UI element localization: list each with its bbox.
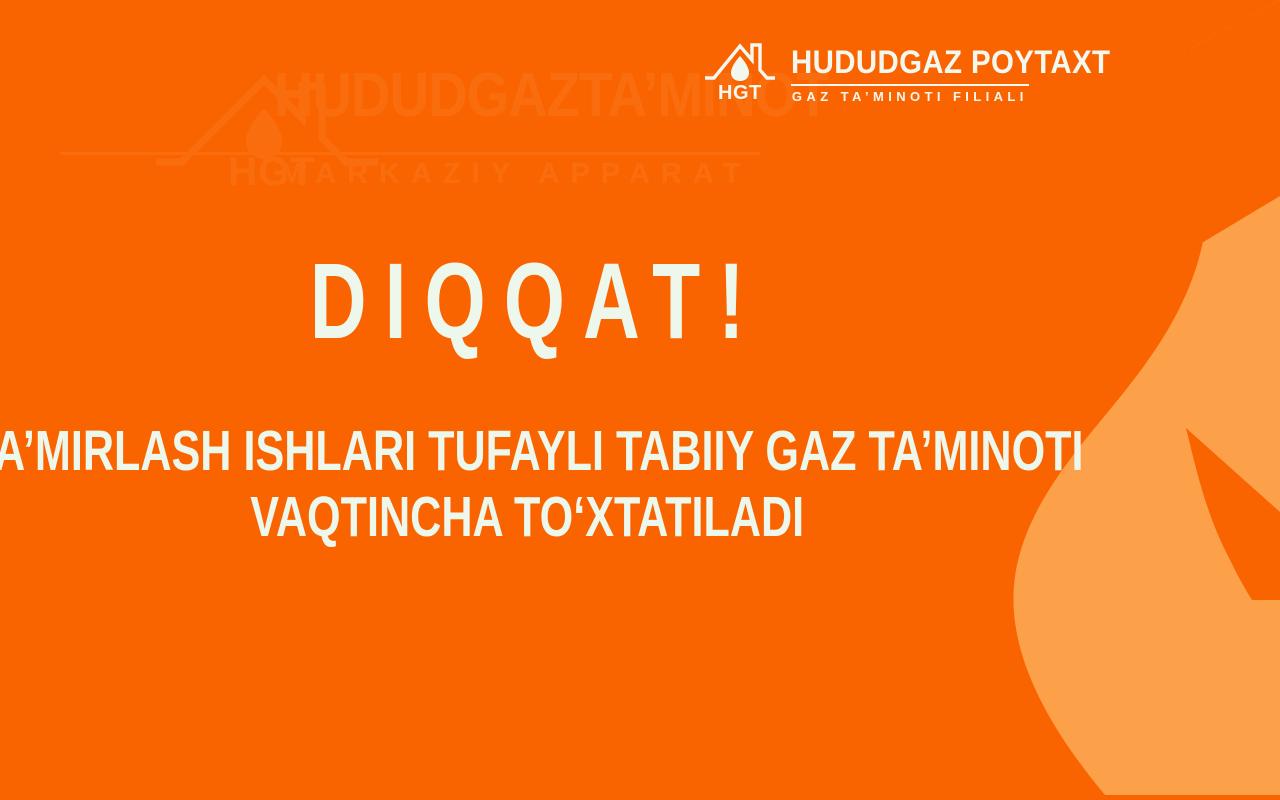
announcement-text-block: DIQQAT! TA’MIRLASH ISHLARI TUFAYLI TABII…: [0, 0, 1055, 800]
announcement-body-line-2: VAQTINCHA TO‘XTATILADI: [0, 485, 1084, 551]
announcement-body-line-1: TA’MIRLASH ISHLARI TUFAYLI TABIIY GAZ TA…: [0, 419, 1084, 485]
announcement-headline: DIQQAT!: [292, 248, 763, 356]
announcement-body: TA’MIRLASH ISHLARI TUFAYLI TABIIY GAZ TA…: [0, 419, 1084, 550]
announcement-poster: HGT HUDUDGAZTA’MINOT MARKAZIY APPARAT HG…: [0, 0, 1280, 800]
